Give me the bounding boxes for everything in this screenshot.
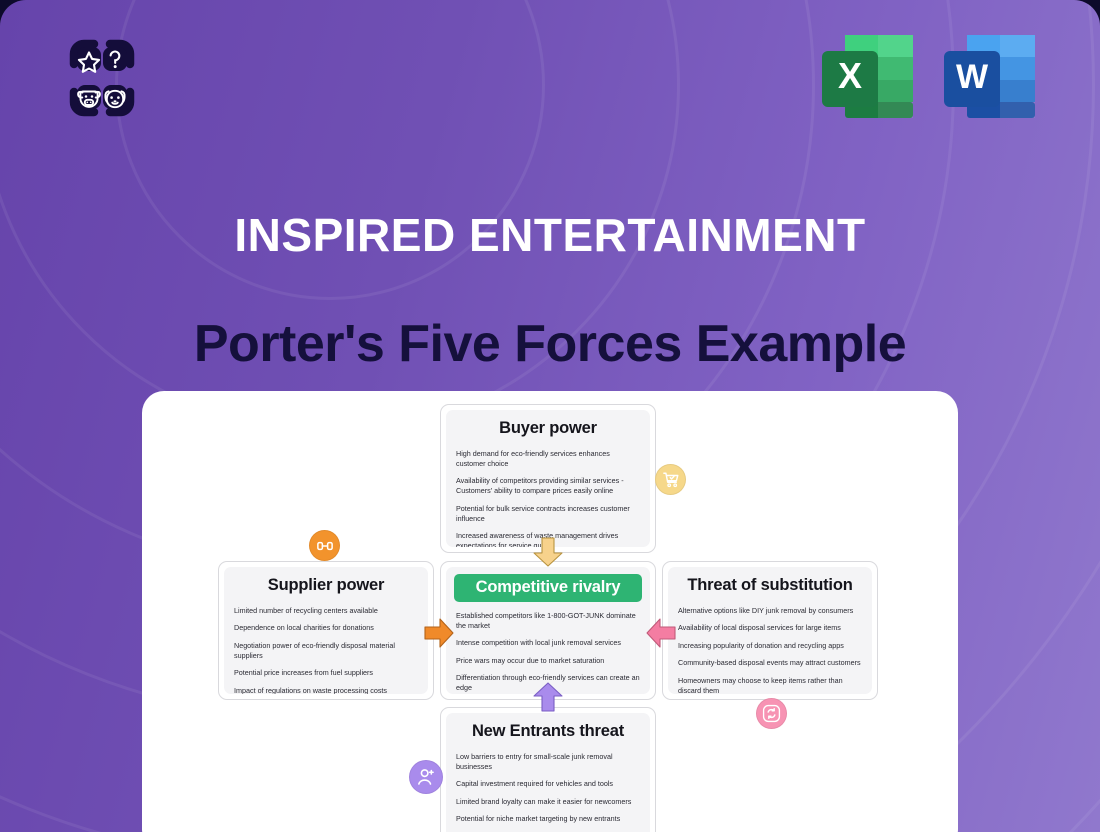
force-points-buyer: High demand for eco-friendly services en… bbox=[456, 449, 640, 547]
force-point: Community-based disposal events may attr… bbox=[678, 658, 862, 668]
force-point: Potential for bulk service contracts inc… bbox=[456, 504, 640, 524]
force-point: Limited brand loyalty can make it easier… bbox=[456, 797, 640, 807]
brand-title: INSPIRED ENTERTAINMENT bbox=[0, 208, 1100, 262]
force-point: Intense competition with local junk remo… bbox=[456, 638, 640, 648]
force-box-supplier[interactable]: Supplier power Limited number of recycli… bbox=[218, 561, 434, 700]
force-point: Alternative options like DIY junk remova… bbox=[678, 606, 862, 616]
force-point: Negotiation power of eco-friendly dispos… bbox=[234, 641, 418, 661]
svg-text:X: X bbox=[838, 55, 862, 96]
force-point: Dependence on local charities for donati… bbox=[234, 623, 418, 633]
badge-supplier-link[interactable] bbox=[309, 530, 340, 561]
force-point: Capital investment required for vehicles… bbox=[456, 779, 640, 789]
force-point: Price wars may occur due to market satur… bbox=[456, 656, 640, 666]
arrow-entrant-up bbox=[532, 682, 564, 717]
force-points-new-entrants-threat: Low barriers to entry for small-scale ju… bbox=[456, 752, 640, 832]
force-points-supplier: Limited number of recycling centers avai… bbox=[234, 606, 418, 694]
badge-threat-refresh[interactable] bbox=[756, 698, 787, 729]
force-box-new-entrants-threat[interactable]: New Entrants threat Low barriers to entr… bbox=[440, 707, 656, 832]
qr-scanner-pets-logo bbox=[52, 28, 152, 128]
arrow-buyer-down bbox=[532, 537, 564, 572]
force-point: Potential price increases from fuel supp… bbox=[234, 668, 418, 678]
refresh-icon bbox=[762, 704, 781, 723]
page-title: Porter's Five Forces Example bbox=[0, 314, 1100, 374]
force-title-buyer: Buyer power bbox=[456, 419, 640, 438]
force-title-supplier: Supplier power bbox=[234, 576, 418, 595]
arrow-supplier-right bbox=[424, 617, 454, 654]
badge-entrant-adduser[interactable] bbox=[409, 760, 443, 794]
arrow-threat-left bbox=[646, 617, 676, 654]
force-point: Impact of regulations on waste processin… bbox=[234, 686, 418, 694]
badge-buyer-cart[interactable] bbox=[655, 464, 686, 495]
force-point: Established competitors like 1-800-GOT-J… bbox=[456, 611, 640, 631]
excel-icon[interactable]: X bbox=[818, 26, 922, 126]
force-point: Potential for niche market targeting by … bbox=[456, 814, 640, 824]
force-points-threat-of-substitution: Alternative options like DIY junk remova… bbox=[678, 606, 862, 694]
force-point: Low barriers to entry for small-scale ju… bbox=[456, 752, 640, 772]
dumbbell-icon bbox=[316, 537, 334, 555]
word-icon[interactable]: W bbox=[940, 26, 1044, 126]
diagram-card: Buyer power High demand for eco-friendly… bbox=[142, 391, 958, 832]
force-point: Increasing popularity of donation and re… bbox=[678, 641, 862, 651]
force-point: Limited number of recycling centers avai… bbox=[234, 606, 418, 616]
force-point: High demand for eco-friendly services en… bbox=[456, 449, 640, 469]
svg-text:W: W bbox=[956, 58, 989, 96]
force-title-competitive-rivalry: Competitive rivalry bbox=[454, 574, 642, 602]
cart-icon bbox=[662, 471, 680, 489]
force-title-threat-of-substitution: Threat of substitution bbox=[678, 576, 862, 595]
force-point: Homeowners may choose to keep items rath… bbox=[678, 676, 862, 694]
force-point: Availability of local disposal services … bbox=[678, 623, 862, 633]
force-title-new-entrants-threat: New Entrants threat bbox=[456, 722, 640, 741]
force-box-competitive-rivalry[interactable]: Competitive rivalry Established competit… bbox=[440, 561, 656, 700]
slide-canvas: X W INSPIRED ENTERTAINMENT Porter's Five… bbox=[0, 0, 1100, 832]
force-box-buyer[interactable]: Buyer power High demand for eco-friendly… bbox=[440, 404, 656, 553]
force-box-threat-of-substitution[interactable]: Threat of substitution Alternative optio… bbox=[662, 561, 878, 700]
add-user-icon bbox=[416, 767, 436, 787]
force-point: Availability of competitors providing si… bbox=[456, 476, 640, 496]
